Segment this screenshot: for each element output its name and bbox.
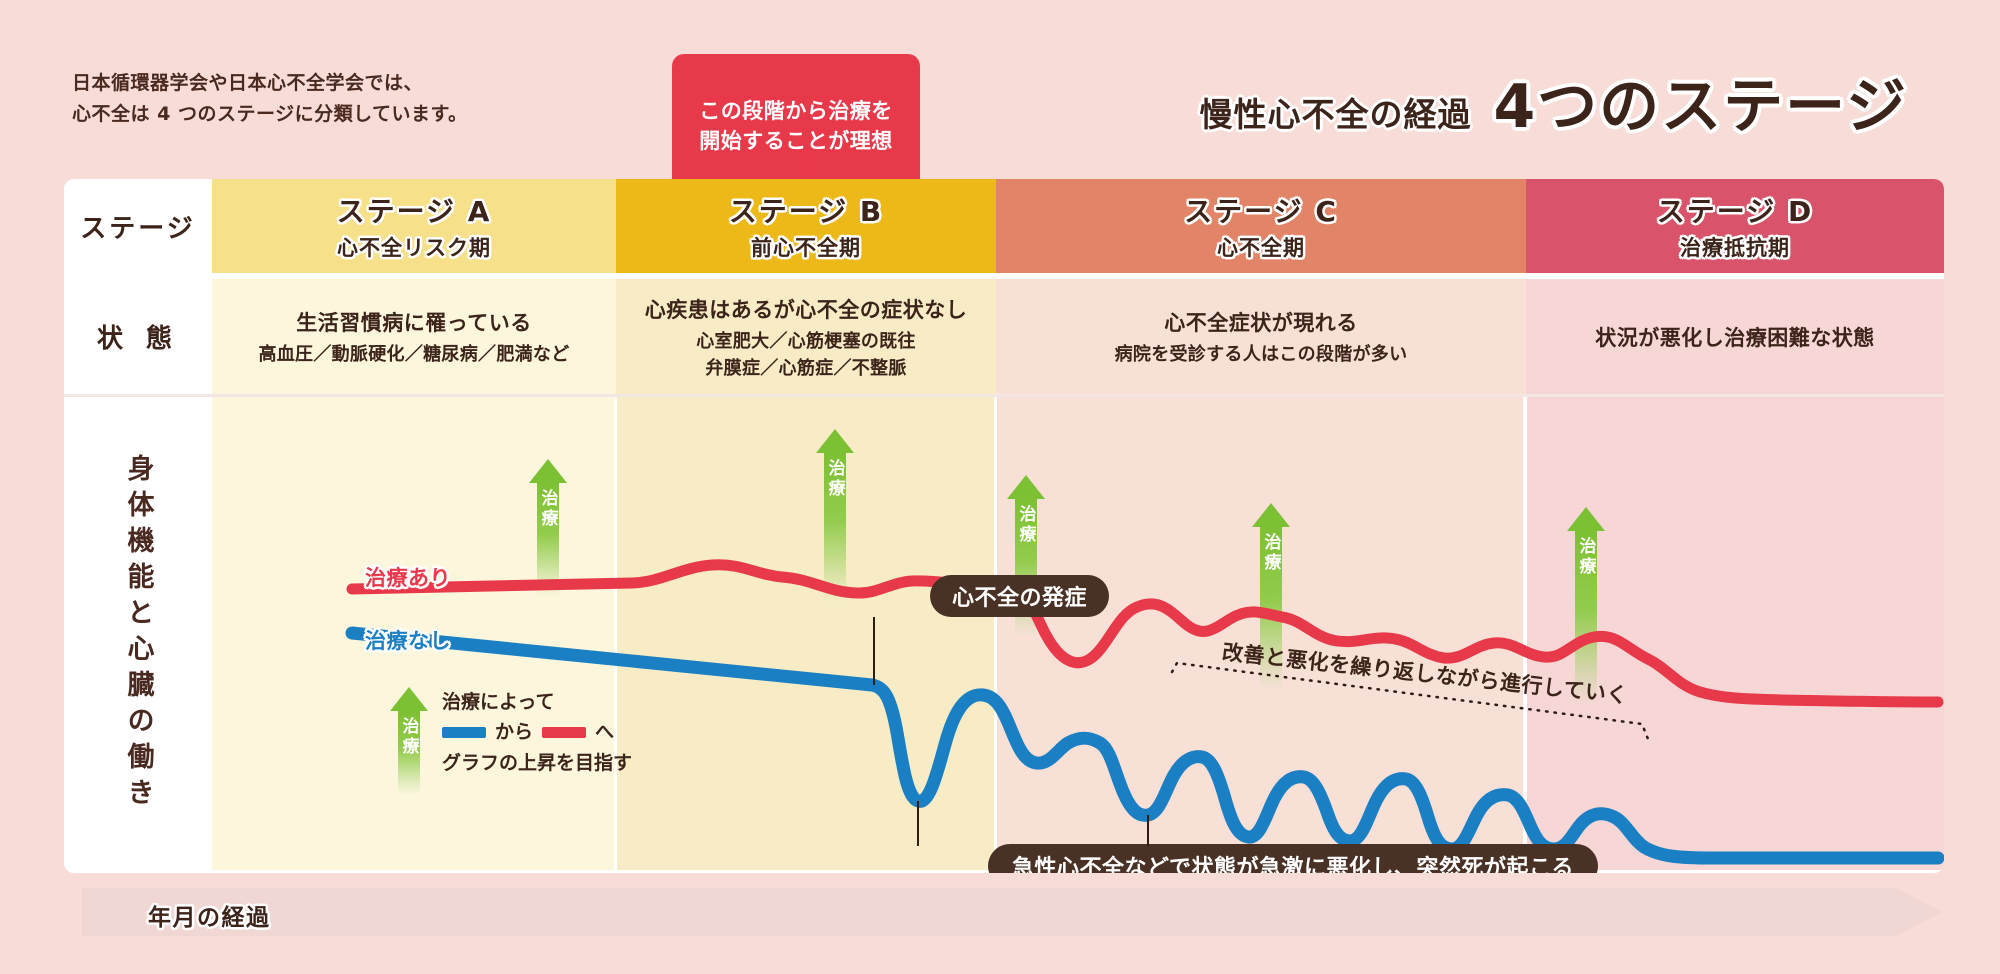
stage-a-sub: 心不全リスク期 [337, 232, 492, 262]
timeline-label: 年月の経過 [148, 898, 271, 932]
legend-swatch-red [542, 727, 586, 738]
callout-leader-line [1147, 815, 1149, 846]
row-header-graph: 身体機能と心臓の働き [64, 397, 212, 870]
state-cell-c: 心不全症状が現れる 病院を受診する人はこの段階が多い [996, 279, 1526, 394]
stage-header-b[interactable]: ステージ B 前心不全期 [616, 179, 996, 273]
stage-d-sub: 治療抵抗期 [1657, 232, 1813, 262]
stage-header-d[interactable]: ステージ D 治療抵抗期 [1526, 179, 1944, 273]
callout-sudden-death: 急性心不全などで状態が急激に悪化し、突然死が起こる [988, 844, 1598, 873]
page-title-main: 慢性心不全の経過 [1199, 88, 1471, 145]
timeline-arrow-icon [1896, 888, 1942, 936]
timeline-axis: 年月の経過 [82, 888, 1942, 936]
stage-b-name: ステージ B [729, 190, 884, 230]
row-header-stage: ステージ [64, 179, 212, 273]
series-label-without-treatment: 治療なし [365, 625, 451, 655]
intro-note: 日本循環器学会や日本心不全学会では、 心不全は 4 つのステージに分類しています… [72, 68, 468, 131]
state-cell-d: 状況が悪化し治療困難な状態 [1526, 279, 1944, 394]
callout-leader-line [873, 617, 875, 685]
stage-a-name: ステージ A [337, 190, 492, 230]
legend-to-word: へ [595, 717, 614, 747]
stage-table: ステージ ステージ A 心不全リスク期 ステージ B 前心不全期 ステージ C … [64, 179, 1944, 873]
state-cell-b: 心疾患はあるが心不全の症状なし 心室肥大／心筋梗塞の既往 弁膜症／心筋症／不整脈 [616, 279, 996, 394]
legend-treatment-arrow: 治療 [390, 687, 428, 795]
stage-header-row: ステージ ステージ A 心不全リスク期 ステージ B 前心不全期 ステージ C … [64, 179, 1944, 273]
row-header-state: 状 態 [64, 279, 212, 394]
callout-leader-line [917, 801, 919, 846]
timeline-bar [82, 888, 1896, 936]
stage-header-c[interactable]: ステージ C 心不全期 [996, 179, 1526, 273]
stage-c-name: ステージ C [1184, 190, 1338, 230]
legend-line-3: グラフの上昇を目指す [442, 748, 632, 778]
curve-with-treatment [352, 565, 1938, 702]
legend-swatch-blue [442, 727, 486, 738]
graph-legend: 治療 治療によって から へ グラフの上昇を目指す [390, 687, 632, 795]
page-title: 慢性心不全の経過 4つのステージ [1199, 58, 1908, 145]
series-label-with-treatment: 治療あり [365, 562, 451, 592]
callout-start-treatment-text: この段階から治療を 開始することが理想 [699, 99, 893, 153]
legend-line-2: から へ [442, 717, 632, 747]
state-row: 状 態 生活習慣病に罹っている 高血圧／動脈硬化／糖尿病／肥満など 心疾患はある… [64, 279, 1944, 397]
page-title-emphasis: 4つのステージ [1493, 58, 1908, 145]
callout-heart-failure-onset: 心不全の発症 [930, 575, 1109, 617]
legend-line-1: 治療によって [442, 687, 632, 717]
graph-plot-area: 治療 治療 治療 治療 治療 [212, 397, 1944, 870]
stage-d-name: ステージ D [1657, 190, 1813, 230]
arrow-head-icon [390, 687, 428, 711]
graph-curves [212, 397, 1944, 870]
stage-b-sub: 前心不全期 [729, 232, 884, 262]
stage-c-sub: 心不全期 [1184, 232, 1338, 262]
legend-from-word: から [495, 717, 533, 747]
graph-row: 身体機能と心臓の働き 治療 治療 治療 [64, 397, 1944, 870]
state-cell-a: 生活習慣病に罹っている 高血圧／動脈硬化／糖尿病／肥満など [212, 279, 616, 394]
stage-header-a[interactable]: ステージ A 心不全リスク期 [212, 179, 616, 273]
